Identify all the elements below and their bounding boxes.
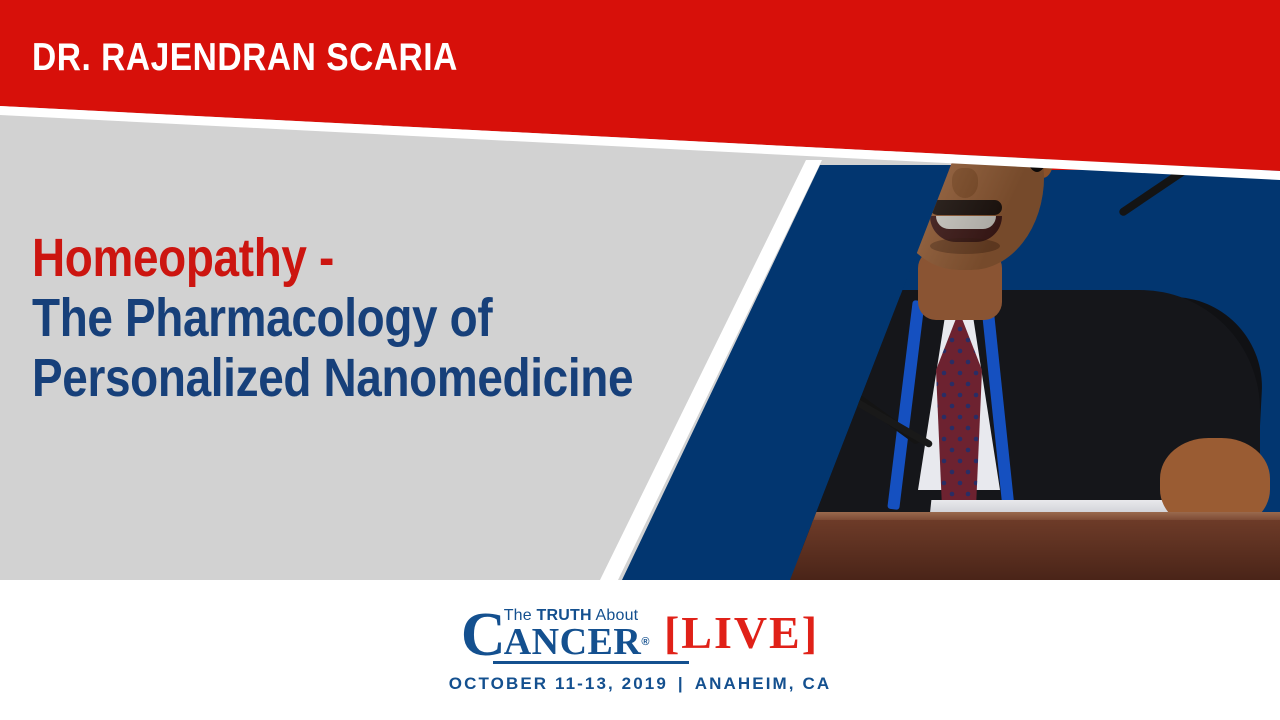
event-separator: | <box>668 674 695 694</box>
live-stamp-badge: [LIVE] <box>664 610 819 656</box>
headline-line-1: Homeopathy - <box>32 228 627 288</box>
logo-cancer-word: ANCER® <box>504 624 650 660</box>
truth-about-cancer-logo[interactable]: C The TRUTH About ANCER® <box>461 600 650 660</box>
logo-big-c: C <box>461 610 506 660</box>
stage-area: DR. RAJENDRAN SCARIA Homeopathy - The Ph… <box>0 0 1280 580</box>
logo-text-stack: The TRUTH About ANCER® <box>504 607 650 660</box>
speaker-promo-card: DR. RAJENDRAN SCARIA Homeopathy - The Ph… <box>0 0 1280 720</box>
event-location: ANAHEIM, CA <box>695 674 831 693</box>
registered-mark-icon: ® <box>641 636 650 648</box>
headline-line-2: The Pharmacology of <box>32 288 627 348</box>
logo-underline <box>493 661 689 664</box>
event-details: OCTOBER 11-13, 2019|ANAHEIM, CA <box>0 674 1280 694</box>
logo-cancer-letters: ANCER <box>504 621 642 663</box>
footer: C The TRUTH About ANCER® [LIVE] OCTOBER … <box>0 580 1280 720</box>
speaker-name: DR. RAJENDRAN SCARIA <box>32 36 458 80</box>
headline-block: Homeopathy - The Pharmacology of Persona… <box>32 228 732 408</box>
logo-row: C The TRUTH About ANCER® [LIVE] <box>0 598 1280 660</box>
headline-line-3: Personalized Nanomedicine <box>32 348 627 408</box>
event-date: OCTOBER 11-13, 2019 <box>449 674 668 693</box>
